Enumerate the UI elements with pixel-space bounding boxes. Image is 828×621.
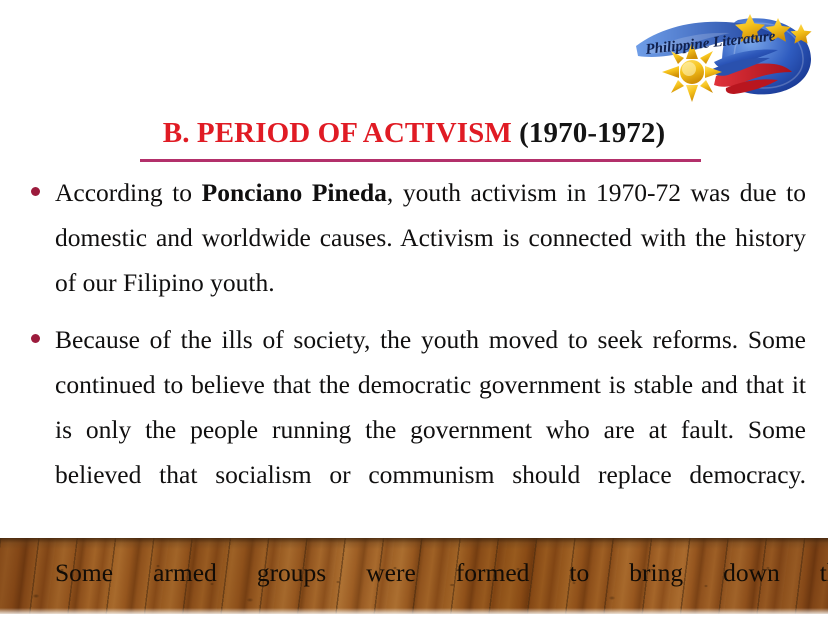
overlay-word: Some	[55, 550, 113, 595]
title-years-text: (1970-1972)	[512, 117, 665, 149]
bullet-paragraph-1: According to Ponciano Pineda, youth acti…	[55, 170, 806, 305]
logo-blue-ribbon	[710, 50, 778, 76]
overlay-word: the	[820, 550, 828, 595]
logo-wordmark: Philippine Literature	[645, 28, 777, 58]
title-underline	[140, 159, 701, 162]
logo-red-ribbon	[714, 64, 792, 95]
logo-sun	[662, 42, 722, 102]
logo-stars	[735, 14, 812, 44]
list-item: According to Ponciano Pineda, youth acti…	[22, 170, 806, 305]
slide-canvas: Philippine Literature B. PERIOD OF ACTIV…	[0, 0, 828, 621]
wood-plank-overlay: Some armed groups were formed to bring d…	[0, 538, 828, 614]
overlay-word: down	[723, 550, 780, 595]
slide-title: B. PERIOD OF ACTIVISM (1970-1972)	[0, 118, 828, 148]
logo-blue-swoosh	[636, 22, 778, 57]
overlay-word: to	[569, 550, 589, 595]
slide-body: According to Ponciano Pineda, youth acti…	[22, 170, 806, 509]
bullet-paragraph-2: Because of the ills of society, the yout…	[55, 317, 806, 497]
overlay-word: were	[366, 550, 416, 595]
overlay-word: armed	[153, 550, 217, 595]
philippine-literature-logo: Philippine Literature	[630, 2, 820, 102]
bullet-marker-icon	[31, 187, 40, 196]
logo-globe	[722, 18, 811, 94]
title-main-text: B. PERIOD OF ACTIVISM	[163, 117, 512, 149]
overlay-word: bring	[629, 550, 683, 595]
list-item: Because of the ills of society, the yout…	[22, 317, 806, 497]
bullet-1-seg-0: According to	[55, 178, 202, 207]
overlay-word: formed	[456, 550, 530, 595]
bullet-marker-icon	[31, 334, 40, 343]
bullet-1-seg-1: Ponciano Pineda	[202, 178, 387, 207]
wood-bottom-edge	[0, 608, 828, 614]
overlay-text-line: Some armed groups were formed to bring d…	[55, 550, 800, 595]
overlay-word: groups	[257, 550, 326, 595]
